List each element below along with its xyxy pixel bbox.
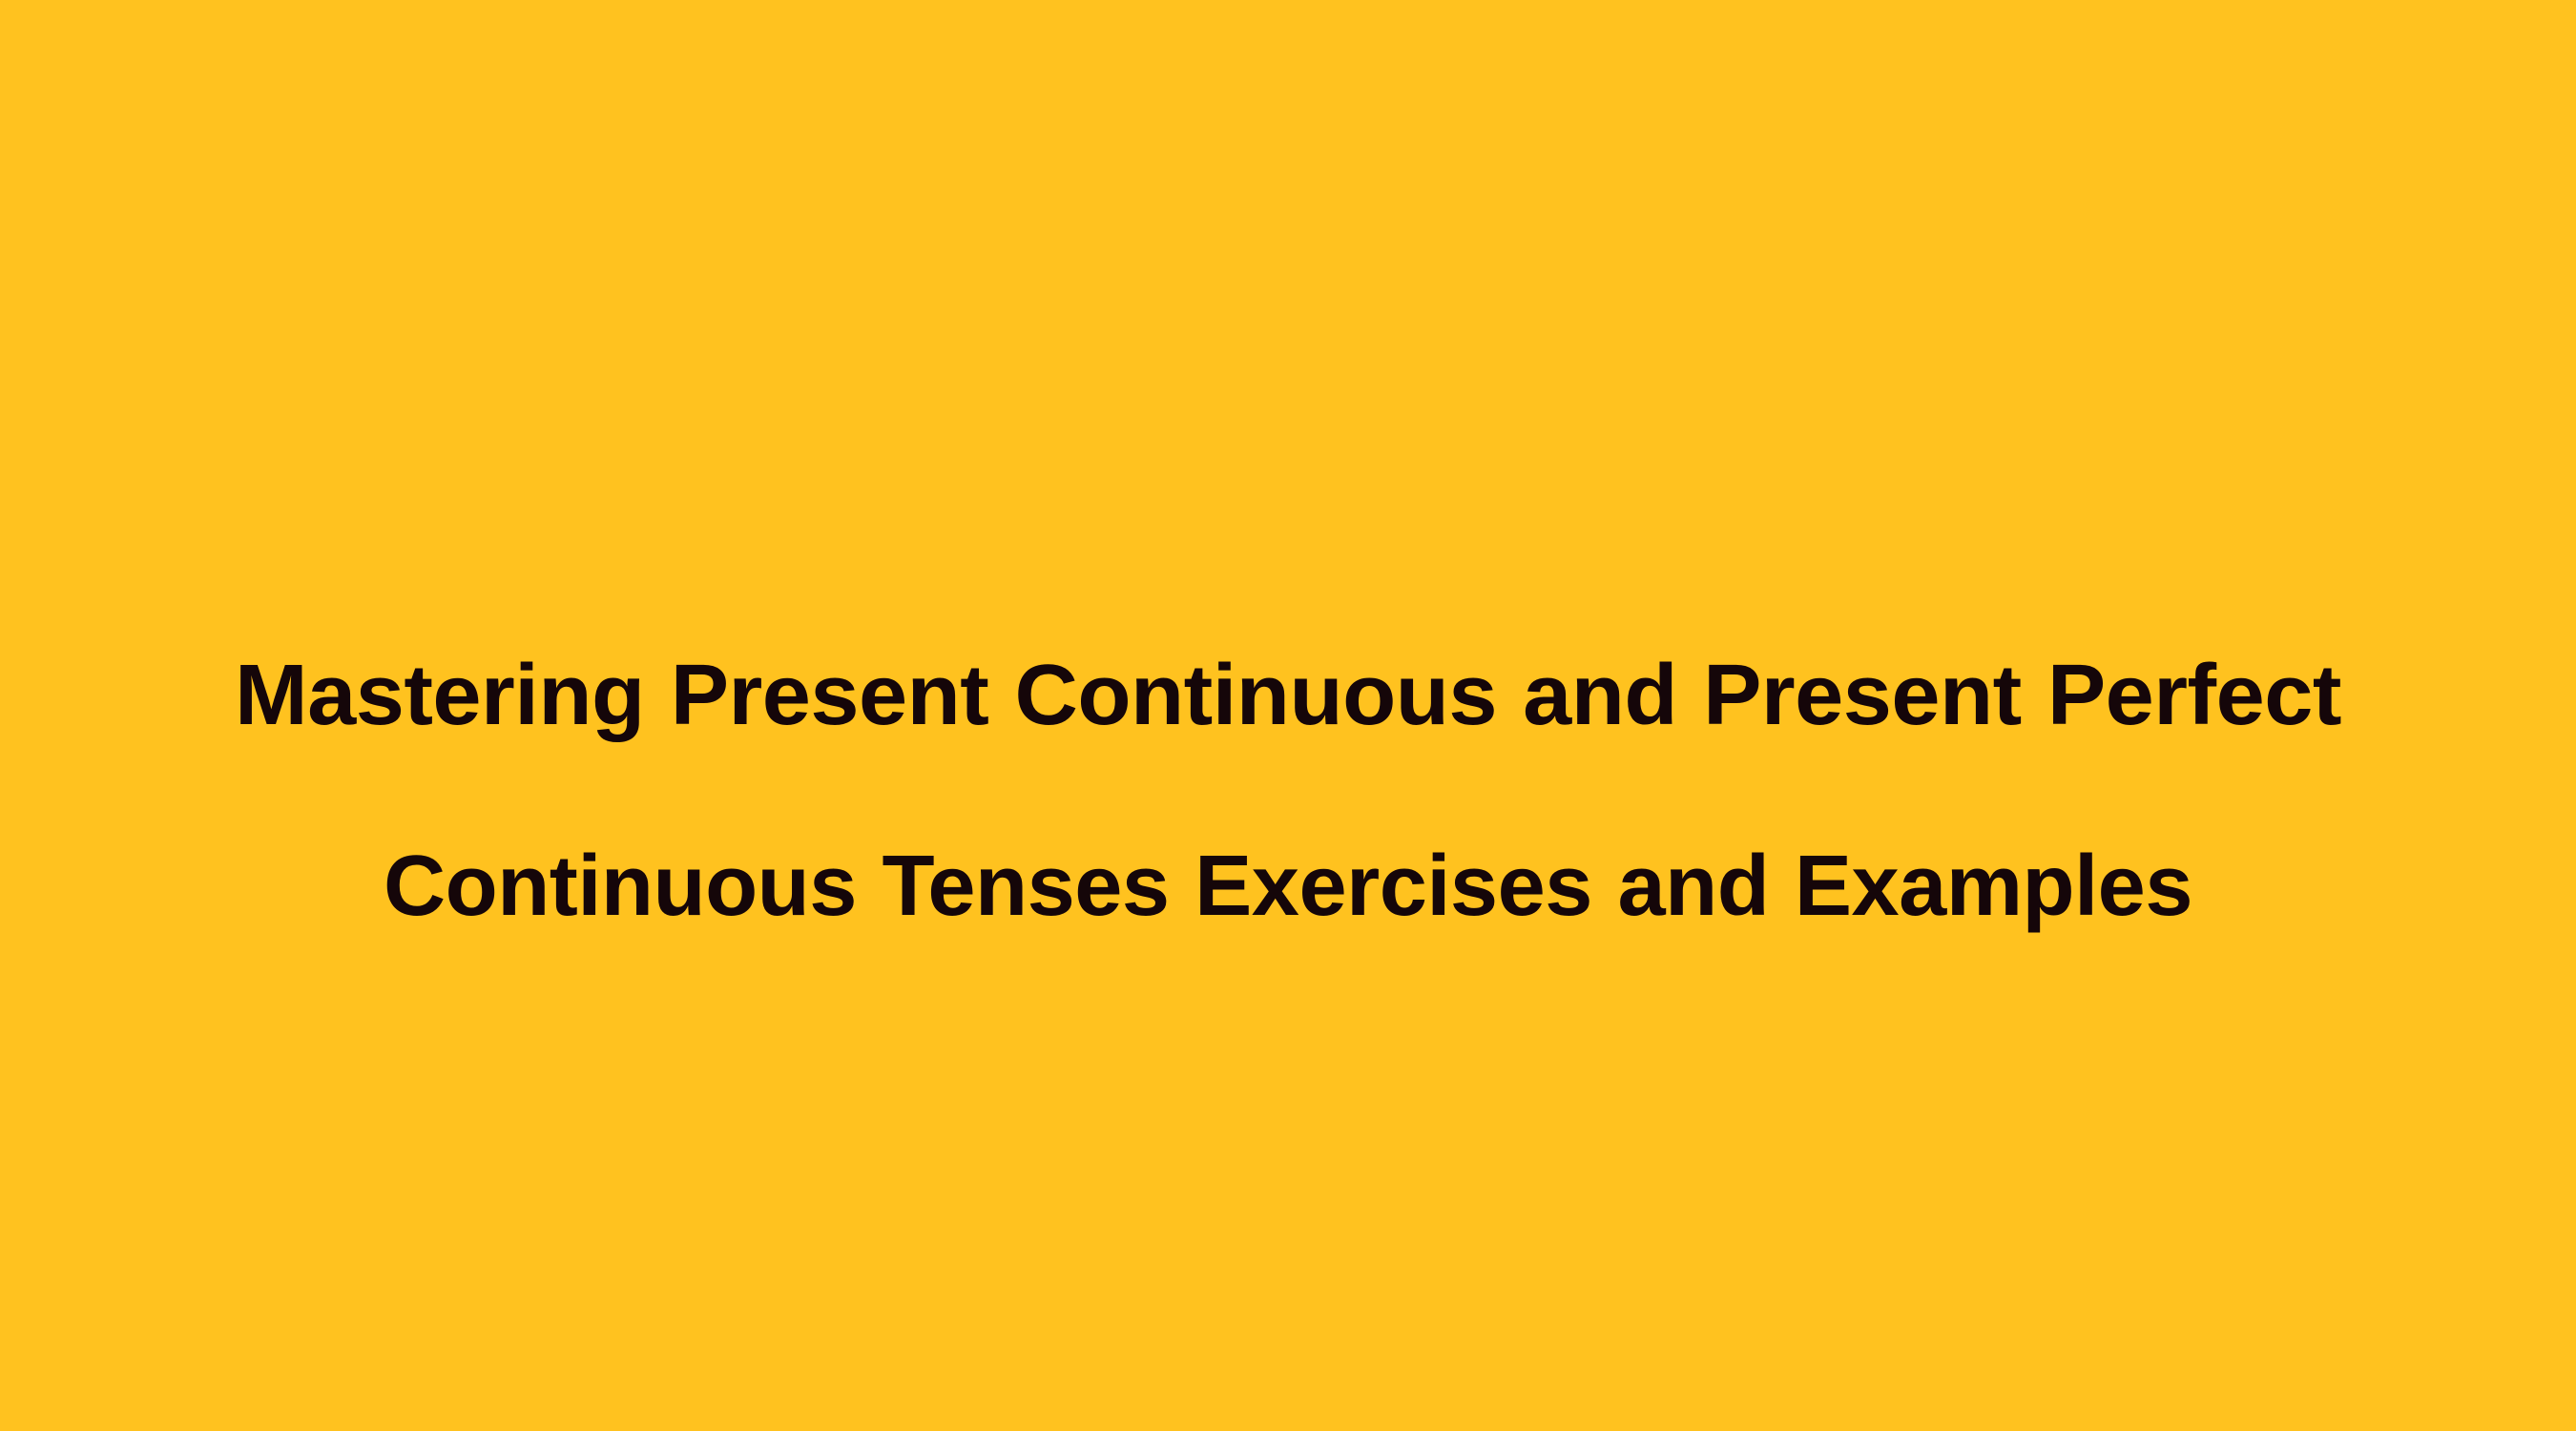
page-title-line-2: Continuous Tenses Exercises and Examples — [0, 791, 2576, 982]
page-title-line-1: Mastering Present Continuous and Present… — [0, 600, 2576, 791]
banner-canvas: Mastering Present Continuous and Present… — [0, 0, 2576, 1431]
page-title: Mastering Present Continuous and Present… — [0, 600, 2576, 982]
